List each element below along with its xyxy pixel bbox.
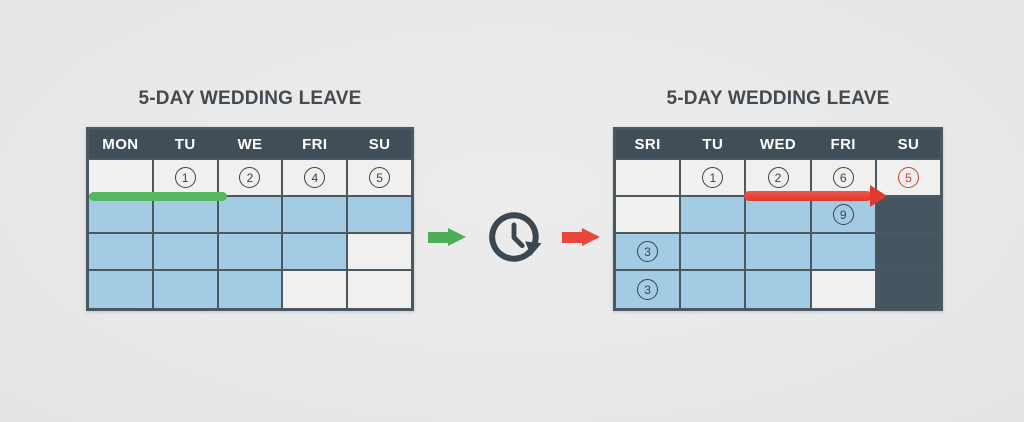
calendar-cell[interactable]	[89, 271, 154, 308]
calendar-cell[interactable]	[219, 197, 284, 234]
column-header-mon: MON	[89, 130, 154, 160]
calendar-cell[interactable]	[348, 271, 411, 308]
calendar-cell[interactable]	[681, 234, 746, 271]
arrow-head	[582, 228, 600, 246]
arrow-shaft	[562, 232, 584, 243]
left-calendar-panel: 5-DAY WEDDING LEAVE MONTUWEFRISU 1245	[86, 88, 414, 311]
clock-rotate-icon	[485, 208, 543, 266]
calendar-cell[interactable]	[154, 271, 219, 308]
calendar-cell[interactable]	[348, 197, 411, 234]
day-count-badge: 6	[833, 167, 854, 188]
calendar-cell[interactable]: 5	[877, 160, 940, 197]
arrow-shaft	[428, 232, 450, 243]
calendar-row: 9	[616, 197, 940, 234]
calendar-cell[interactable]	[877, 197, 940, 234]
calendar-cell[interactable]: 2	[219, 160, 284, 197]
column-header-tu: TU	[681, 130, 746, 160]
left-calendar-header-row: MONTUWEFRISU	[89, 130, 411, 160]
calendar-cell[interactable]: 1	[681, 160, 746, 197]
calendar-cell[interactable]	[812, 271, 877, 308]
calendar-cell[interactable]: 3	[616, 234, 681, 271]
arrow-right-icon-red	[562, 228, 600, 246]
calendar-row	[89, 234, 411, 271]
calendar-cell[interactable]	[877, 271, 940, 308]
column-header-fri: FRI	[283, 130, 348, 160]
calendar-cell[interactable]: 1	[154, 160, 219, 197]
arrow-head	[448, 228, 466, 246]
day-count-badge: 3	[637, 279, 658, 300]
calendar-cell[interactable]: 9	[812, 197, 877, 234]
calendar-row	[89, 271, 411, 308]
calendar-row: 1245	[89, 160, 411, 197]
column-header-wed: WED	[746, 130, 811, 160]
right-calendar-table: SRITUWEDFRISU 1265933	[613, 127, 943, 311]
calendar-row	[89, 197, 411, 234]
calendar-cell[interactable]	[616, 160, 681, 197]
calendar-cell[interactable]: 3	[616, 271, 681, 308]
day-count-badge: 2	[768, 167, 789, 188]
calendar-cell[interactable]	[681, 197, 746, 234]
column-header-we: WE	[219, 130, 284, 160]
calendar-cell[interactable]: 2	[746, 160, 811, 197]
day-count-badge: 5	[898, 167, 919, 188]
day-count-badge: 4	[304, 167, 325, 188]
calendar-cell[interactable]	[219, 271, 284, 308]
calendar-cell[interactable]: 6	[812, 160, 877, 197]
calendar-cell[interactable]	[89, 234, 154, 271]
calendar-cell[interactable]	[154, 197, 219, 234]
column-header-su: SU	[348, 130, 411, 160]
day-count-badge: 5	[369, 167, 390, 188]
calendar-cell[interactable]: 4	[283, 160, 348, 197]
calendar-cell[interactable]	[812, 234, 877, 271]
transition-group	[428, 206, 600, 268]
calendar-cell[interactable]	[219, 234, 284, 271]
day-count-badge: 1	[702, 167, 723, 188]
calendar-cell[interactable]	[283, 197, 348, 234]
day-count-badge: 9	[833, 204, 854, 225]
calendar-cell[interactable]	[89, 160, 154, 197]
calendar-row: 3	[616, 271, 940, 308]
illustration-canvas: 5-DAY WEDDING LEAVE MONTUWEFRISU 1245 5-…	[0, 0, 1024, 422]
day-count-badge: 2	[239, 167, 260, 188]
day-count-badge: 3	[637, 241, 658, 262]
calendar-cell[interactable]	[746, 271, 811, 308]
right-calendar-body: 1265933	[616, 160, 940, 308]
calendar-cell[interactable]	[283, 271, 348, 308]
calendar-row: 3	[616, 234, 940, 271]
column-header-sri: SRI	[616, 130, 681, 160]
calendar-cell[interactable]: 5	[348, 160, 411, 197]
calendar-cell[interactable]	[154, 234, 219, 271]
right-calendar-title: 5-DAY WEDDING LEAVE	[613, 88, 943, 110]
column-header-tu: TU	[154, 130, 219, 160]
column-header-su: SU	[877, 130, 940, 160]
calendar-row: 1265	[616, 160, 940, 197]
calendar-cell[interactable]	[283, 234, 348, 271]
day-count-badge: 1	[175, 167, 196, 188]
right-calendar-header-row: SRITUWEDFRISU	[616, 130, 940, 160]
calendar-cell[interactable]	[616, 197, 681, 234]
left-calendar-body: 1245	[89, 160, 411, 308]
right-calendar-panel: 5-DAY WEDDING LEAVE SRITUWEDFRISU 126593…	[613, 88, 943, 311]
left-calendar-title: 5-DAY WEDDING LEAVE	[86, 88, 414, 110]
column-header-fri: FRI	[812, 130, 877, 160]
left-calendar-table: MONTUWEFRISU 1245	[86, 127, 414, 311]
calendar-cell[interactable]	[348, 234, 411, 271]
calendar-cell[interactable]	[877, 234, 940, 271]
calendar-cell[interactable]	[746, 197, 811, 234]
calendar-cell[interactable]	[746, 234, 811, 271]
calendar-cell[interactable]	[89, 197, 154, 234]
calendar-cell[interactable]	[681, 271, 746, 308]
arrow-right-icon-green	[428, 228, 466, 246]
